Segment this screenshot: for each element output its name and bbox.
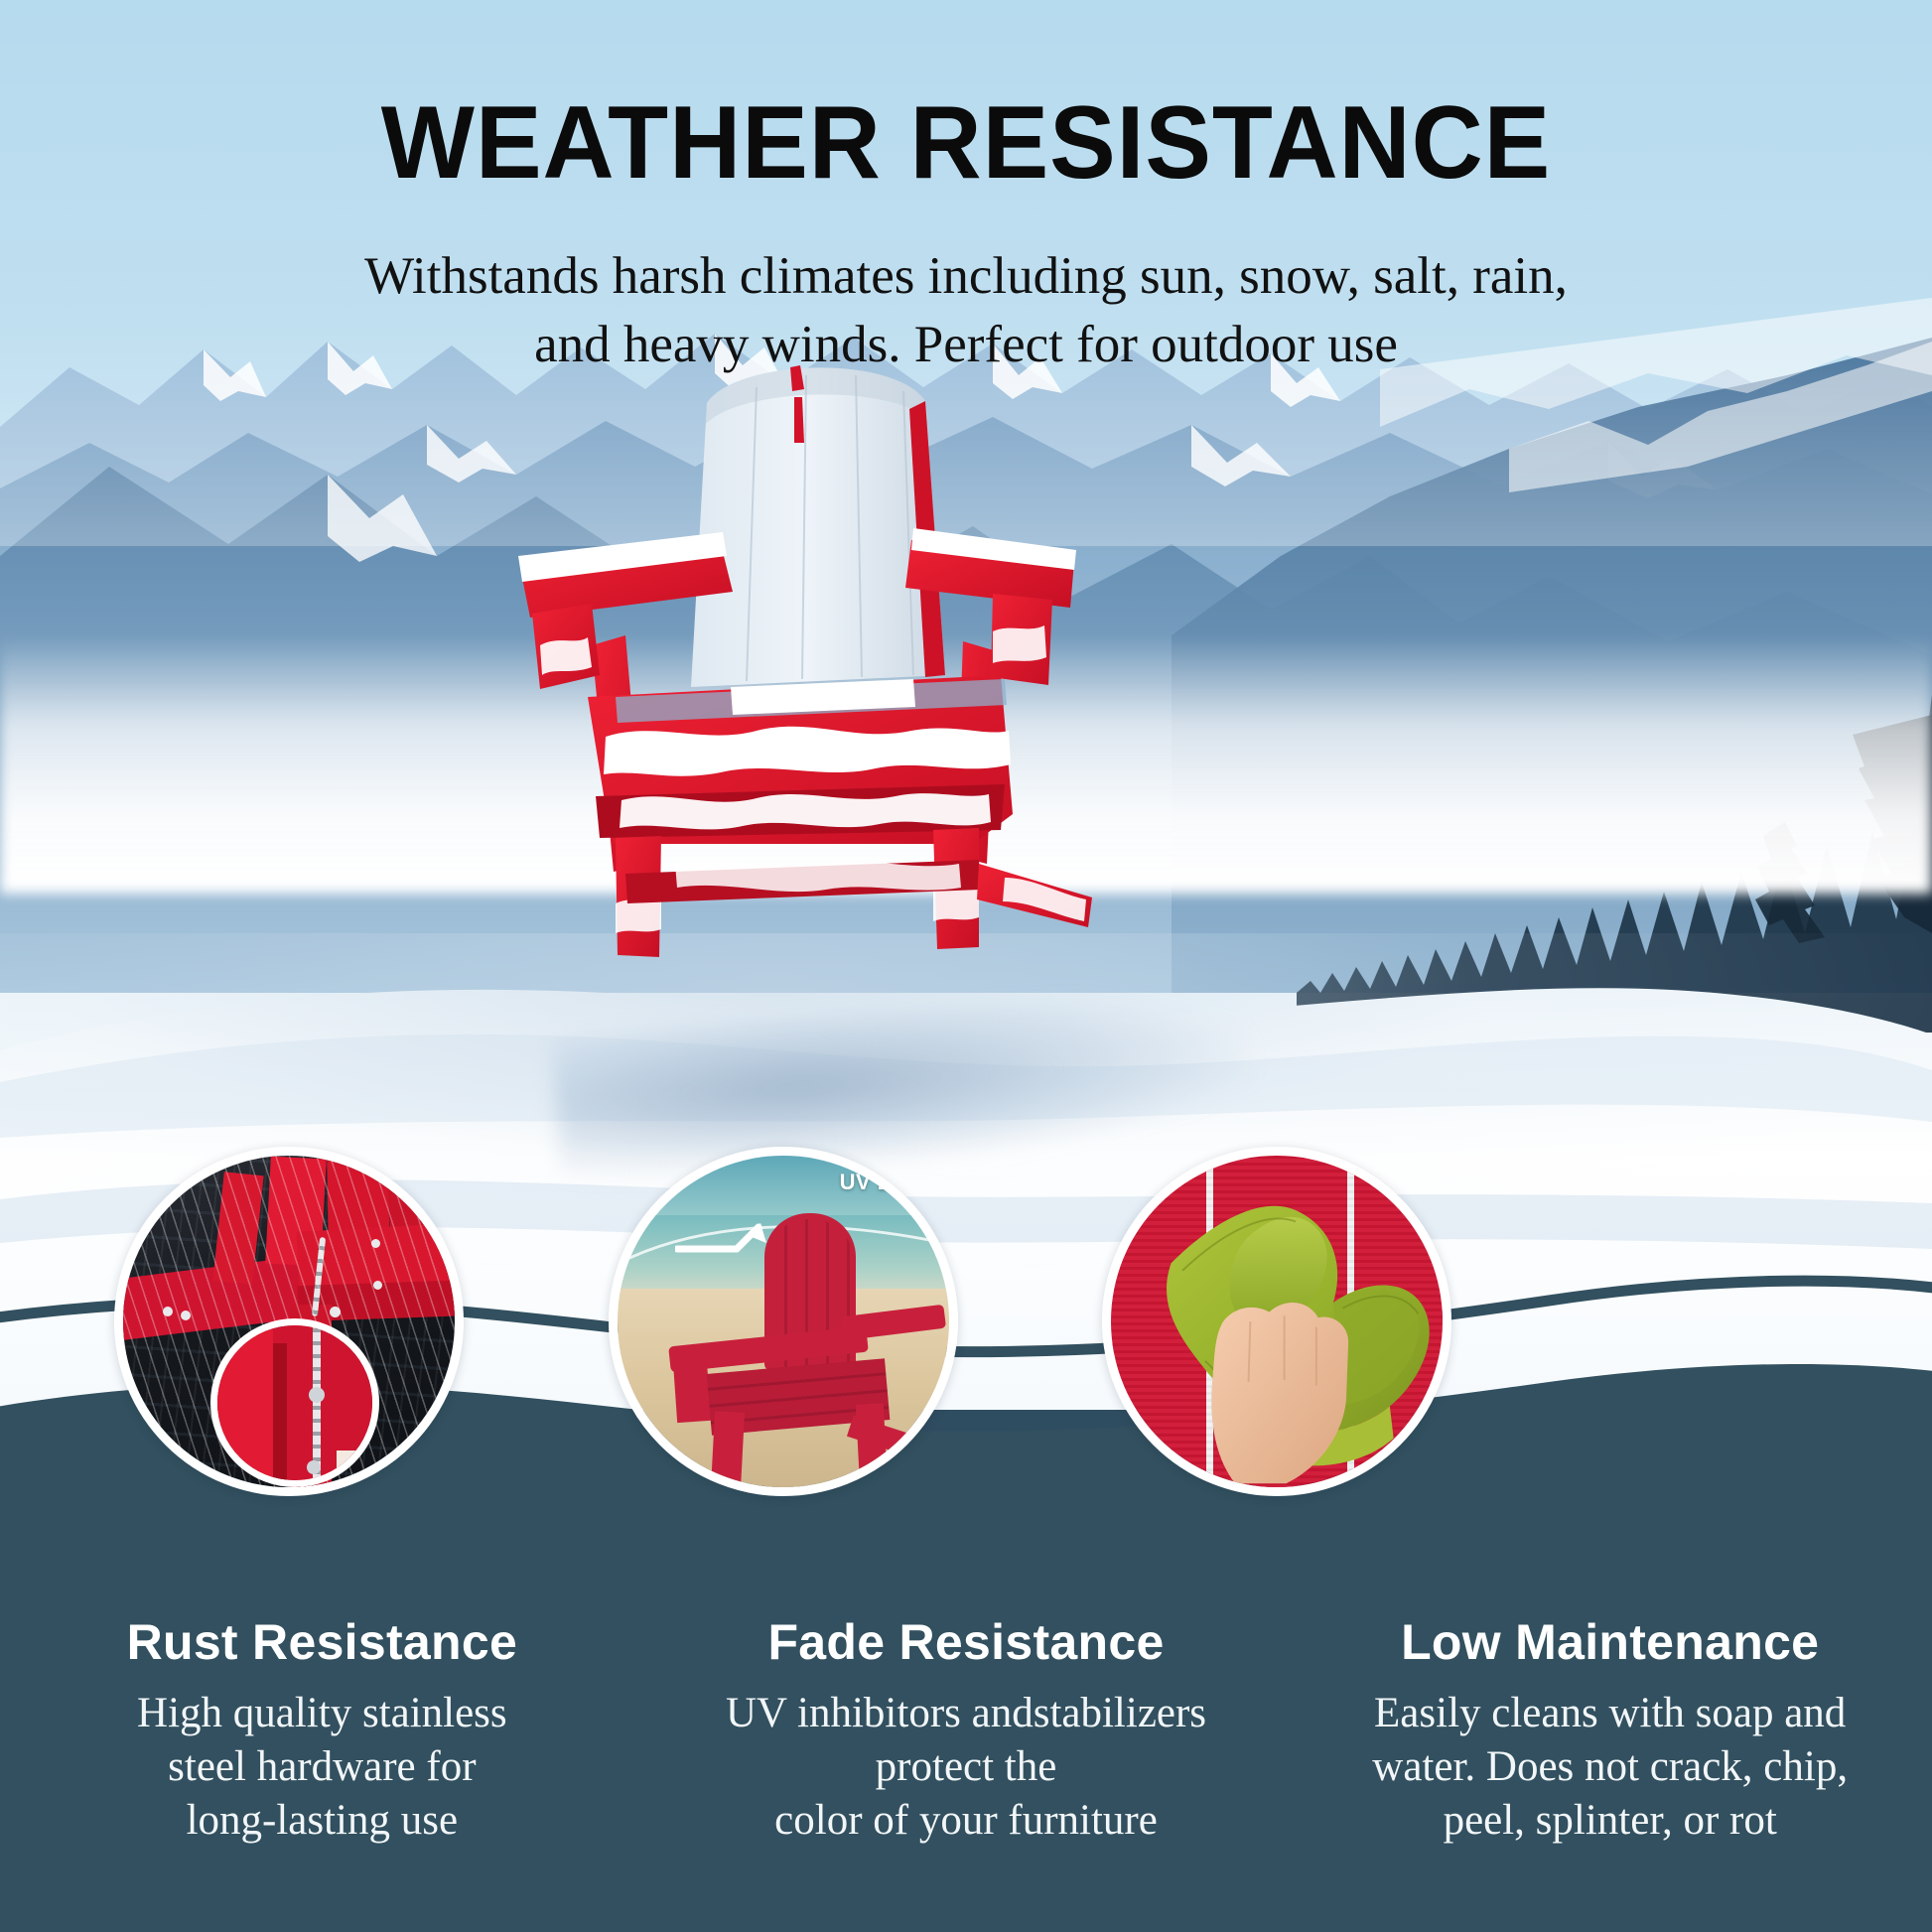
- feature-heading-rust-resistance: Rust Resistance: [24, 1613, 621, 1671]
- feature-body-line-3: long-lasting use: [24, 1794, 621, 1848]
- subtitle-line-1: Withstands harsh climates including sun,…: [0, 242, 1932, 311]
- feature-body-fade-resistance: UV inhibitors andstabilizers protect the…: [668, 1671, 1265, 1849]
- feature-body-line-3: peel, splinter, or rot: [1311, 1794, 1908, 1848]
- feature-column-rust-resistance: Rust Resistance High quality stainless s…: [0, 1613, 644, 1849]
- feature-column-low-maintenance: Low Maintenance Easily cleans with soap …: [1288, 1613, 1932, 1849]
- feature-body-line-1: High quality stainless: [24, 1687, 621, 1740]
- feature-image-rust-resistance: [114, 1147, 464, 1496]
- feature-body-line-1: Easily cleans with soap and: [1311, 1687, 1908, 1740]
- subtitle-line-2: and heavy winds. Perfect for outdoor use: [0, 311, 1932, 379]
- feature-text-row: Rust Resistance High quality stainless s…: [0, 1613, 1932, 1849]
- feature-image-low-maintenance: [1102, 1147, 1451, 1496]
- feature-body-line-2: water. Does not crack, chip,: [1311, 1740, 1908, 1794]
- feature-heading-low-maintenance: Low Maintenance: [1311, 1613, 1908, 1671]
- magnified-hardware-inset: [210, 1318, 379, 1487]
- uv-light-arrow-icon: [675, 1221, 784, 1261]
- feature-body-line-2: protect the: [668, 1740, 1265, 1794]
- snow-covered-adirondack-chair: [496, 347, 1112, 963]
- infographic-canvas: WEATHER RESISTANCE Withstands harsh clim…: [0, 0, 1932, 1932]
- hand: [1111, 1156, 1443, 1487]
- feature-body-line-2: steel hardware for: [24, 1740, 621, 1794]
- feature-body-rust-resistance: High quality stainless steel hardware fo…: [24, 1671, 621, 1849]
- feature-image-fade-resistance: UV Light: [609, 1147, 958, 1496]
- feature-heading-fade-resistance: Fade Resistance: [668, 1613, 1265, 1671]
- feature-body-low-maintenance: Easily cleans with soap and water. Does …: [1311, 1671, 1908, 1849]
- header-block: WEATHER RESISTANCE Withstands harsh clim…: [0, 0, 1932, 379]
- feature-column-fade-resistance: Fade Resistance UV inhibitors andstabili…: [644, 1613, 1289, 1849]
- feature-body-line-3: color of your furniture: [668, 1794, 1265, 1848]
- feature-body-line-1: UV inhibitors andstabilizers: [668, 1687, 1265, 1740]
- uv-light-label: UV Light: [840, 1170, 933, 1195]
- page-title: WEATHER RESISTANCE: [39, 0, 1893, 195]
- page-subtitle: Withstands harsh climates including sun,…: [0, 195, 1932, 379]
